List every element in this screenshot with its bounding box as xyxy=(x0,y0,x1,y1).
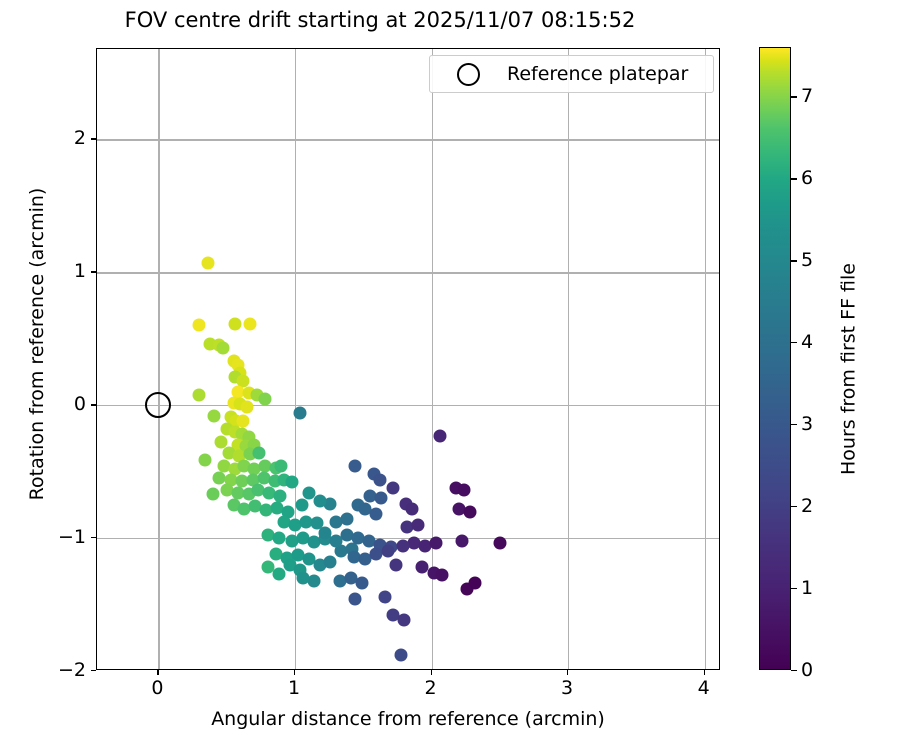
scatter-point xyxy=(212,472,225,485)
scatter-point xyxy=(493,537,506,550)
colorbar-tick-label: 0 xyxy=(801,659,813,681)
page-title: FOV centre drift starting at 2025/11/07 … xyxy=(0,8,760,32)
scatter-plot-area xyxy=(97,49,719,669)
scatter-point xyxy=(429,537,442,550)
colorbar-tick-label: 7 xyxy=(801,85,813,107)
scatter-point xyxy=(463,505,476,518)
x-tick-mark xyxy=(704,670,705,675)
x-tick-label: 1 xyxy=(288,677,300,699)
x-axis-label: Angular distance from reference (arcmin) xyxy=(96,708,720,730)
scatter-point xyxy=(375,492,388,505)
colorbar-tick-mark xyxy=(791,588,797,589)
reference-platepar-marker-icon xyxy=(457,63,480,86)
y-axis-label: Rotation from reference (arcmin) xyxy=(26,33,48,655)
scatter-point xyxy=(208,409,221,422)
scatter-point xyxy=(258,392,271,405)
colorbar-tick-label: 5 xyxy=(801,249,813,271)
gridline-horizontal xyxy=(97,139,719,140)
gridline-vertical xyxy=(158,49,159,669)
scatter-point xyxy=(272,532,285,545)
reference-platepar-marker xyxy=(145,392,171,418)
colorbar-tick-label: 4 xyxy=(801,331,813,353)
scatter-point xyxy=(313,494,326,507)
scatter-point xyxy=(398,614,411,627)
y-tick-label: −1 xyxy=(58,526,86,548)
scatter-point xyxy=(286,476,299,489)
legend: Reference platepar xyxy=(429,55,714,93)
scatter-point xyxy=(381,545,394,558)
scatter-point xyxy=(396,540,409,553)
y-tick-label: 1 xyxy=(74,260,86,282)
colorbar-tick-mark xyxy=(791,342,797,343)
legend-label: Reference platepar xyxy=(507,63,688,85)
scatter-point xyxy=(216,342,229,355)
scatter-point xyxy=(436,569,449,582)
scatter-point xyxy=(324,556,337,569)
gridline-horizontal xyxy=(97,272,719,273)
colorbar-tick-mark xyxy=(791,506,797,507)
scatter-point xyxy=(395,649,408,662)
colorbar-tick-mark xyxy=(791,260,797,261)
scatter-point xyxy=(349,460,362,473)
colorbar-tick-mark xyxy=(791,670,797,671)
colorbar-tick-mark xyxy=(791,96,797,97)
scatter-point xyxy=(201,256,214,269)
x-tick-label: 0 xyxy=(151,677,163,699)
gridline-horizontal xyxy=(97,405,719,406)
scatter-point xyxy=(295,498,308,511)
y-tick-label: −2 xyxy=(58,659,86,681)
scatter-point xyxy=(415,561,428,574)
x-tick-mark xyxy=(431,670,432,675)
colorbar-tick-label: 1 xyxy=(801,577,813,599)
colorbar-label: Hours from first FF file xyxy=(838,58,860,681)
scatter-point xyxy=(455,534,468,547)
y-tick-label: 2 xyxy=(74,127,86,149)
scatter-point xyxy=(198,453,211,466)
scatter-point xyxy=(458,484,471,497)
scatter-point xyxy=(228,318,241,331)
scatter-point xyxy=(275,460,288,473)
scatter-point xyxy=(369,548,382,561)
scatter-point xyxy=(272,567,285,580)
scatter-point xyxy=(411,518,424,531)
x-tick-mark xyxy=(567,670,568,675)
gridline-vertical xyxy=(568,49,569,669)
scatter-point xyxy=(387,481,400,494)
scatter-point xyxy=(390,558,403,571)
scatter-point xyxy=(297,571,310,584)
y-tick-mark xyxy=(91,271,96,272)
x-tick-mark xyxy=(157,670,158,675)
y-tick-mark xyxy=(91,404,96,405)
colorbar xyxy=(759,47,791,670)
x-tick-label: 4 xyxy=(698,677,710,699)
y-tick-mark xyxy=(91,537,96,538)
x-tick-mark xyxy=(294,670,295,675)
colorbar-tick-label: 3 xyxy=(801,413,813,435)
scatter-point xyxy=(355,577,368,590)
scatter-point xyxy=(406,502,419,515)
scatter-point xyxy=(379,590,392,603)
scatter-point xyxy=(241,400,254,413)
y-tick-mark xyxy=(91,670,96,671)
scatter-point xyxy=(193,388,206,401)
scatter-point xyxy=(433,429,446,442)
scatter-point xyxy=(302,486,315,499)
scatter-point xyxy=(294,407,307,420)
plot-axes xyxy=(96,48,720,670)
y-tick-mark xyxy=(91,138,96,139)
colorbar-tick-mark xyxy=(791,424,797,425)
scatter-point xyxy=(373,473,386,486)
scatter-point xyxy=(253,447,266,460)
scatter-point xyxy=(349,593,362,606)
y-tick-label: 0 xyxy=(74,393,86,415)
colorbar-tick-mark xyxy=(791,178,797,179)
colorbar-tick-label: 6 xyxy=(801,167,813,189)
colorbar-tick-label: 2 xyxy=(801,495,813,517)
scatter-point xyxy=(243,318,256,331)
scatter-point xyxy=(369,508,382,521)
gridline-vertical xyxy=(705,49,706,669)
scatter-point xyxy=(469,577,482,590)
figure: FOV centre drift starting at 2025/11/07 … xyxy=(0,0,900,750)
scatter-point xyxy=(193,319,206,332)
scatter-point xyxy=(329,534,342,547)
scatter-point xyxy=(207,488,220,501)
x-tick-label: 2 xyxy=(424,677,436,699)
scatter-point xyxy=(340,513,353,526)
x-tick-label: 3 xyxy=(561,677,573,699)
